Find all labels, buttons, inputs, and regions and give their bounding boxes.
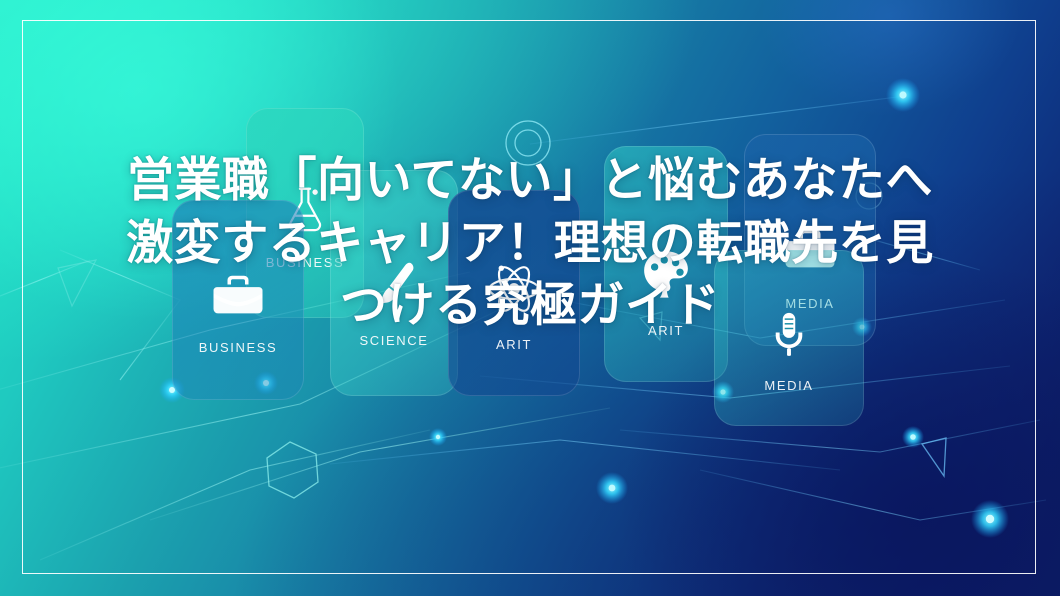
card-label: MEDIA [764, 378, 813, 393]
card-label: BUSINESS [199, 340, 278, 355]
title-line-1: 営業職「向いてない」と悩むあなたへ [34, 150, 1026, 213]
banner-canvas: BUSINESS BUSINESS SCIENCE ARIT ARIT [0, 0, 1060, 596]
title-line-2: 激変するキャリア！理想の転職先を見 [34, 213, 1026, 276]
title-line-3: つける究極ガイド [34, 275, 1026, 338]
banner-title: 営業職「向いてない」と悩むあなたへ 激変するキャリア！理想の転職先を見 つける究… [0, 150, 1060, 338]
card-label: ARIT [496, 337, 532, 352]
